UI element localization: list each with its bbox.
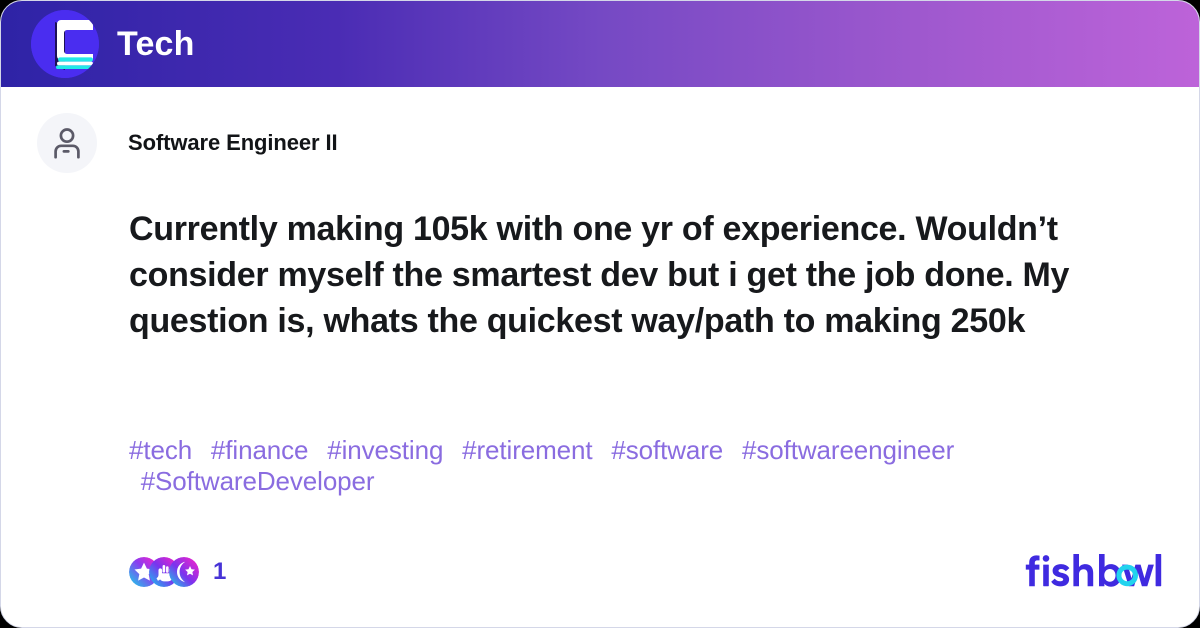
reaction-summary[interactable]: 1 — [129, 557, 226, 587]
fishbowl-post-card: Tech Software Engineer II Currently maki… — [0, 0, 1200, 628]
hashtag-item[interactable]: #finance — [211, 435, 309, 465]
author-name: Software Engineer II — [128, 130, 338, 156]
fishbowl-wordmark — [1023, 550, 1163, 594]
card-body: Software Engineer II Currently making 10… — [1, 87, 1199, 627]
reaction-icon-stack[interactable] — [129, 557, 199, 587]
fishbowl-bowl-logo-icon — [31, 10, 99, 78]
hashtag-item[interactable]: #SoftwareDeveloper — [141, 466, 375, 496]
reaction-count: 1 — [213, 560, 226, 584]
hashtag-item[interactable]: #software — [611, 435, 723, 465]
author-row: Software Engineer II — [37, 113, 1163, 173]
hashtag-item[interactable]: #softwareengineer — [742, 435, 954, 465]
sparkle-reaction-icon[interactable] — [169, 557, 199, 587]
card-header: Tech — [1, 1, 1199, 87]
hashtag-item[interactable]: #tech — [129, 435, 192, 465]
hashtag-item[interactable]: #investing — [327, 435, 443, 465]
page-title: Tech — [117, 27, 195, 61]
hashtag-item[interactable]: #retirement — [462, 435, 592, 465]
screenshot-canvas: Tech Software Engineer II Currently maki… — [0, 0, 1200, 628]
post-text: Currently making 105k with one yr of exp… — [129, 207, 1073, 345]
person-avatar-icon — [37, 113, 97, 173]
hashtag-list[interactable]: #tech #finance #investing #retirement #s… — [129, 435, 1129, 496]
post-footer: 1 — [129, 550, 1163, 594]
